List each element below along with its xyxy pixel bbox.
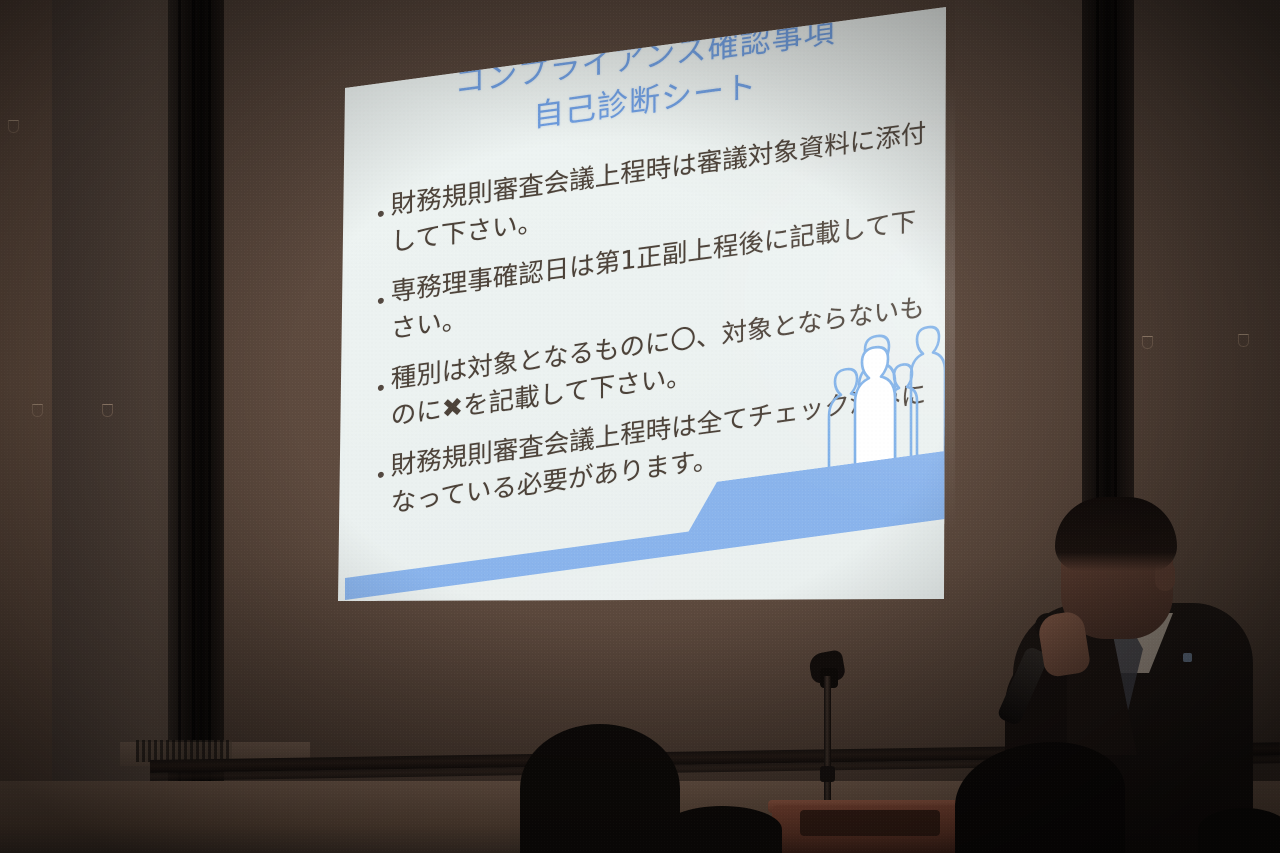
speaker-hair — [1055, 497, 1177, 571]
wall-hook-icon — [8, 120, 19, 133]
podium-inner-shadow — [800, 810, 940, 836]
wall-hook-icon — [1238, 334, 1249, 347]
wall-hook-icon — [102, 404, 113, 417]
speaker-lapel-badge — [1183, 653, 1192, 662]
curtain-strip-left — [168, 0, 224, 800]
microphone-stand-joint — [820, 766, 835, 782]
audience-head — [1198, 808, 1280, 853]
presentation-photo-scene: コンプライアンス確認事項 自己診断シート • 財務規則審査会議上程時は審議対象資… — [0, 0, 1280, 853]
audience-head — [662, 806, 782, 853]
audience-head — [520, 724, 680, 853]
wall-hook-icon — [1142, 336, 1153, 349]
wall-hook-icon — [32, 404, 43, 417]
